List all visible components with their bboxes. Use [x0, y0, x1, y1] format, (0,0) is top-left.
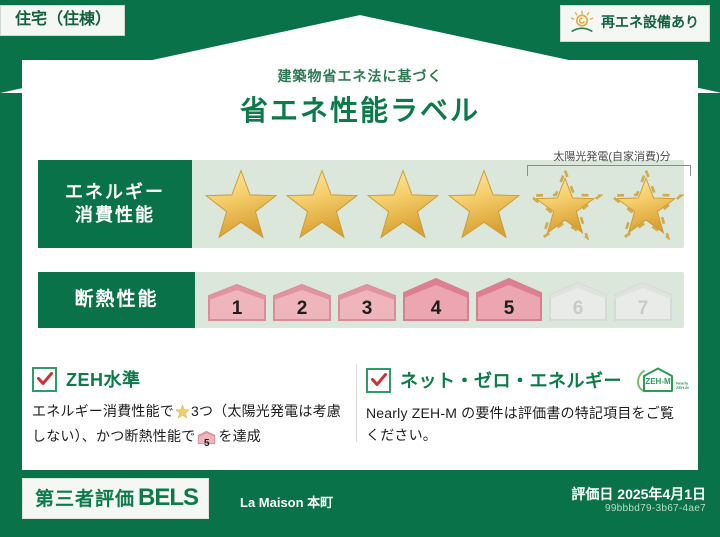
insulation-level-group: 1 2 3 4 5	[195, 277, 674, 323]
zeh-desc-part1: エネルギー消費性能で	[32, 403, 174, 419]
energy-performance-label: 住宅（住棟） 再エネ設備あり 建築物省エネ法に基づく 省エネ性能ラベル	[0, 0, 720, 537]
page-title: 省エネ性能ラベル	[0, 89, 720, 129]
energy-star-filled	[284, 167, 360, 241]
energy-star-filled	[365, 167, 441, 241]
zeh-standard-title: ZEH水準	[66, 366, 141, 392]
building-type-badge: 住宅（住棟）	[0, 5, 125, 36]
energy-performance-label-block: エネルギー 消費性能	[38, 160, 192, 248]
building-type-label: 住宅（住棟）	[15, 11, 111, 28]
record-id: 99bbbd79-3b67-4ae7	[605, 503, 706, 514]
energy-star-filled	[203, 167, 279, 241]
zeh-m-logo: ZEH-M Nearly ZEH-M	[635, 366, 691, 394]
zeh-desc-part3: を達成	[218, 428, 261, 444]
insulation-label: 断熱性能	[74, 288, 158, 312]
check-icon	[32, 367, 57, 392]
insulation-level-number: 7	[612, 298, 674, 320]
energy-star-solar	[527, 167, 603, 241]
insulation-level-off: 7	[612, 281, 674, 323]
evaluation-date-label: 評価日	[571, 486, 613, 502]
insulation-level-off: 6	[547, 281, 609, 323]
insulation-level-number: 5	[474, 298, 544, 320]
energy-label-line1: エネルギー	[65, 181, 165, 204]
insulation-level-number: 1	[206, 298, 268, 320]
evaluation-date: 評価日 2025年4月1日	[571, 484, 706, 504]
insulation-performance-label-block: 断熱性能	[38, 272, 195, 328]
zeh-standard-header: ZEH水準	[32, 366, 350, 392]
insulation-performance-row: 断熱性能 1 2 3 4	[38, 272, 684, 328]
insulation-level-on: 3	[336, 283, 398, 323]
insulation-level-on: 2	[271, 283, 333, 323]
check-icon	[366, 368, 391, 393]
insulation-level-inline-icon: 5	[197, 430, 216, 452]
project-name: La Maison 本町	[240, 492, 333, 511]
insulation-level-on: 1	[206, 283, 268, 323]
net-zero-energy-description: Nearly ZEH-M の要件は評価書の特記項目をご覧ください。	[366, 403, 684, 446]
bels-logo-text: BELS	[138, 484, 198, 512]
energy-performance-row: エネルギー 消費性能 太陽光発電(自家消費)分	[38, 160, 684, 248]
svg-text:ZEH-M: ZEH-M	[676, 385, 689, 390]
net-zero-energy-title: ネット・ゼロ・エネルギー	[400, 367, 622, 393]
energy-star-group	[192, 167, 684, 241]
energy-label-line2: 消費性能	[75, 204, 155, 227]
inline-house-number: 5	[197, 436, 216, 452]
energy-rating-body: 太陽光発電(自家消費)分	[192, 160, 684, 248]
zeh-standard-block: ZEH水準 エネルギー消費性能で3つ（太陽光発電は考慮しない）、かつ断熱性能で5…	[32, 366, 350, 451]
section-divider	[356, 364, 357, 442]
net-zero-energy-header: ネット・ゼロ・エネルギー ZEH-M Nearly ZEH-M	[366, 366, 684, 394]
insulation-level-achieved: 5	[474, 277, 544, 323]
net-zero-energy-block: ネット・ゼロ・エネルギー ZEH-M Nearly ZEH-M Nearly Z…	[366, 366, 684, 446]
star-icon	[175, 404, 190, 426]
third-party-label: 第三者評価	[35, 484, 135, 511]
insulation-rating-body: 1 2 3 4 5	[195, 272, 684, 328]
insulation-level-number: 4	[401, 298, 471, 320]
insulation-level-number: 3	[336, 298, 398, 320]
solar-contribution-note: 太陽光発電(自家消費)分	[497, 148, 720, 164]
evaluation-date-value: 2025年4月1日	[617, 486, 706, 502]
third-party-evaluation-badge: 第三者評価 BELS	[22, 478, 209, 519]
label-subtitle: 建築物省エネ法に基づく	[0, 66, 720, 86]
zeh-standard-description: エネルギー消費性能で3つ（太陽光発電は考慮しない）、かつ断熱性能で5を達成	[32, 401, 350, 451]
energy-star-filled	[446, 167, 522, 241]
renewable-equipment-label: 再エネ設備あり	[601, 15, 699, 30]
insulation-level-number: 6	[547, 298, 609, 320]
svg-text:ZEH-M: ZEH-M	[645, 377, 671, 386]
renewable-equipment-badge: 再エネ設備あり	[560, 5, 710, 42]
sun-icon	[569, 10, 595, 36]
insulation-level-number: 2	[271, 298, 333, 320]
energy-star-solar	[608, 167, 684, 241]
insulation-level-on: 4	[401, 277, 471, 323]
